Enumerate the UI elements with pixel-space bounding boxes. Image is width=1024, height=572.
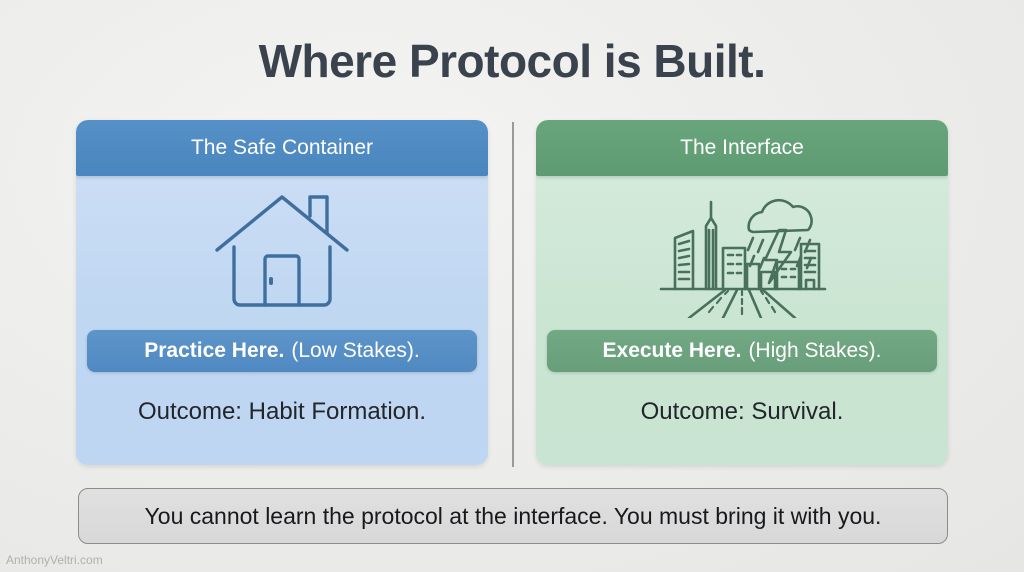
panel-header-safe-container: The Safe Container [76, 120, 488, 176]
panel-interface: The Interface [536, 120, 948, 465]
outcome-safe-container: Outcome: Habit Formation. [138, 398, 426, 426]
outcome-interface: Outcome: Survival. [641, 398, 844, 426]
panel-divider [512, 122, 514, 467]
badge-strong-text: Practice Here. [144, 339, 284, 363]
bottom-banner: You cannot learn the protocol at the int… [78, 488, 948, 544]
badge-normal-text: (High Stakes). [748, 339, 881, 363]
panel-header-interface: The Interface [536, 120, 948, 176]
house-icon [76, 176, 488, 328]
badge-strong-text: Execute Here. [603, 339, 742, 363]
watermark: AnthonyVeltri.com [6, 553, 103, 567]
panel-safe-container: The Safe Container Practice Here. (Low S… [76, 120, 488, 465]
page-title: Where Protocol is Built. [0, 34, 1024, 88]
badge-practice-here: Practice Here. (Low Stakes). [87, 330, 477, 372]
city-storm-icon [536, 176, 948, 328]
badge-execute-here: Execute Here. (High Stakes). [547, 330, 937, 372]
badge-normal-text: (Low Stakes). [291, 339, 419, 363]
